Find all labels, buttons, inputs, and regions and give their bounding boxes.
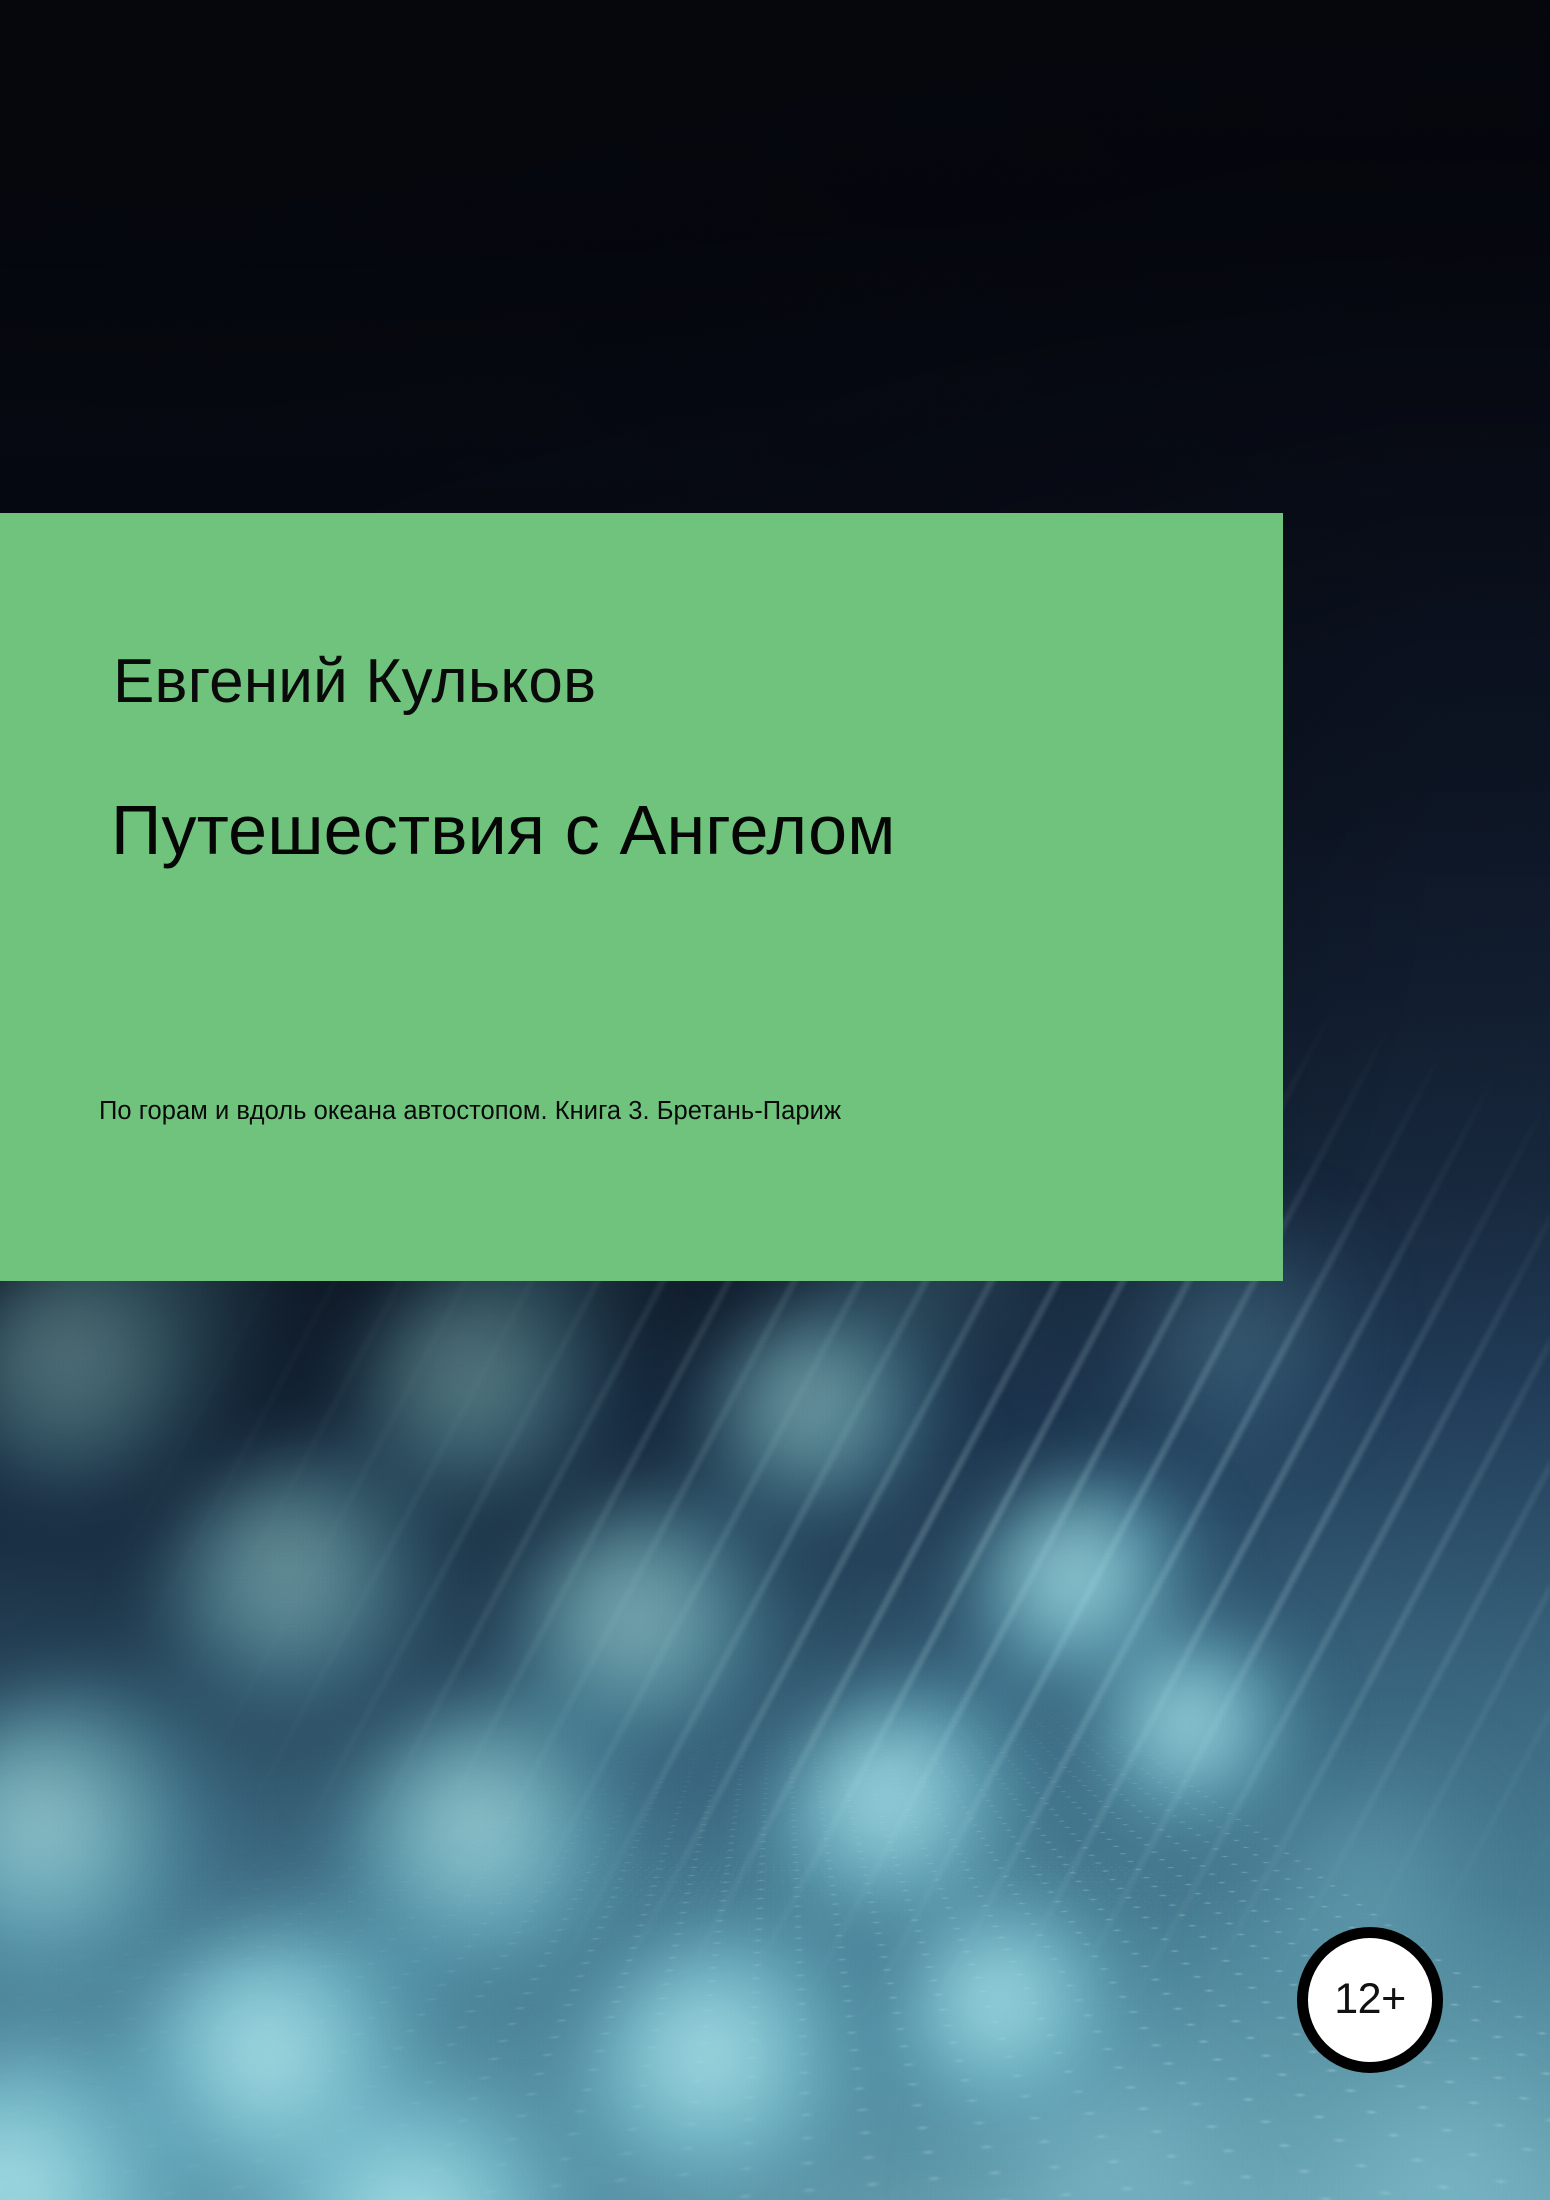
- book-cover: Евгений Кульков Путешествия с Ангелом По…: [0, 0, 1550, 2200]
- book-subtitle: По горам и вдоль океана автостопом. Книг…: [99, 1096, 841, 1127]
- book-title: Путешествия с Ангелом: [111, 790, 896, 871]
- age-rating-label: 12+: [1334, 1978, 1405, 2021]
- age-rating-badge: 12+: [1297, 1927, 1443, 2073]
- title-panel: [0, 513, 1283, 1281]
- author-name: Евгений Кульков: [113, 648, 596, 716]
